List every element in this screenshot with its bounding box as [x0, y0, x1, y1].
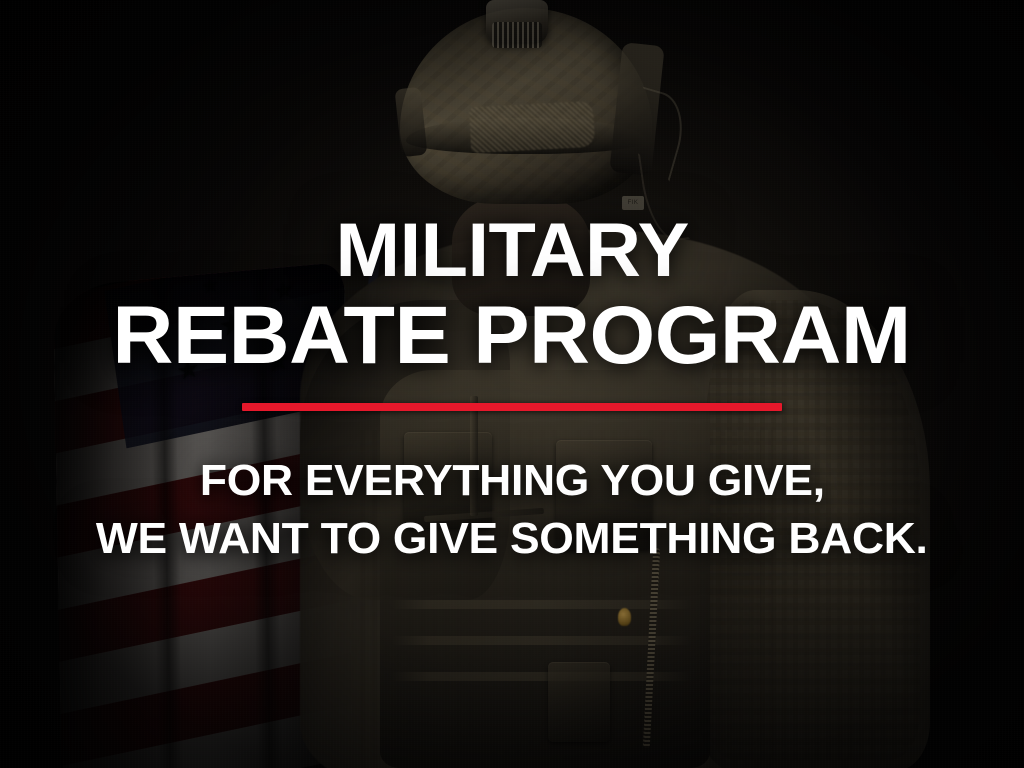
poster-text-overlay: MILITARY REBATE PROGRAM FOR EVERYTHING Y…: [0, 0, 1024, 768]
page-title-line-1: MILITARY: [335, 214, 688, 288]
page-title-line-2: REBATE PROGRAM: [113, 296, 911, 376]
accent-divider: [242, 403, 782, 411]
tagline-line-2: WE WANT TO GIVE SOMETHING BACK.: [96, 511, 928, 567]
military-rebate-poster: ★ ★ ★ ★ ★ ★: [0, 0, 1024, 768]
tagline-line-1: FOR EVERYTHING YOU GIVE,: [200, 453, 825, 509]
